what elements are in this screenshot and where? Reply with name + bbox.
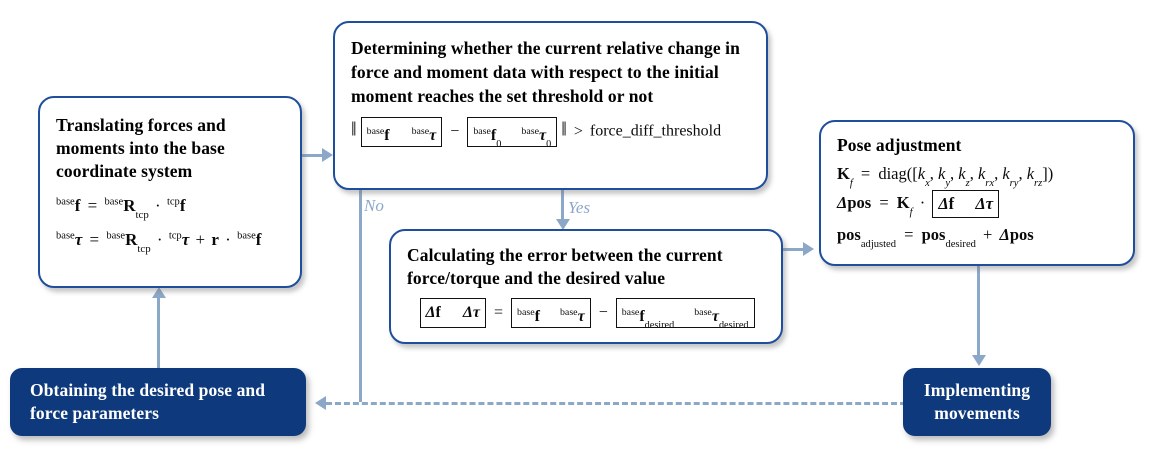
node-calculate-error-title: Calculating the error between the curren…	[407, 244, 767, 290]
node-calculate-error[interactable]: Calculating the error between the curren…	[389, 229, 783, 344]
node-translating-forces-title: Translating forces and moments into the …	[56, 114, 286, 183]
equation-stiffness-matrix: Kf = diag([kx, ky, kz, krx, kry, krz])	[837, 164, 1121, 184]
edge-label-no: No	[364, 196, 384, 216]
equation-force-error: Δf Δτ = basef baseτ − basefdesired baseτ…	[407, 298, 767, 328]
arrowhead-pose-to-implementing	[972, 355, 986, 366]
connector-desired-to-translate	[157, 295, 160, 368]
node-pose-adjustment[interactable]: Pose adjustment Kf = diag([kx, ky, kz, k…	[819, 120, 1135, 266]
equation-base-force: basef = baseRtcp · tcpf	[56, 196, 286, 216]
equation-threshold-condition: ‖ basef baseτ − basef0 baseτ0 ‖ > force_…	[351, 117, 752, 147]
node-obtaining-desired-pose-title: Obtaining the desired pose and force par…	[30, 379, 286, 425]
node-implementing-movements-title: Implementing movements	[917, 379, 1037, 425]
equation-delta-pos: Δpos = Kf · Δf Δτ	[837, 190, 1121, 218]
connector-decision-no-branch	[359, 190, 362, 402]
connector-pose-to-implementing	[977, 266, 980, 360]
flowchart-canvas: Yes No Translating forces and moments in…	[0, 0, 1163, 451]
node-obtaining-desired-pose[interactable]: Obtaining the desired pose and force par…	[10, 368, 306, 436]
equation-pos-adjusted: posadjusted = posdesired + Δpos	[837, 225, 1121, 245]
threshold-variable-name: force_diff_threshold	[590, 123, 721, 140]
edge-label-yes: Yes	[568, 198, 590, 218]
node-implementing-movements[interactable]: Implementing movements	[903, 368, 1051, 436]
node-translating-forces[interactable]: Translating forces and moments into the …	[38, 96, 302, 288]
arrowhead-error-to-pose	[803, 242, 814, 256]
node-pose-adjustment-title: Pose adjustment	[837, 134, 1121, 156]
arrowhead-desired-to-translate	[152, 287, 166, 298]
node-threshold-decision-title: Determining whether the current relative…	[351, 36, 752, 108]
equation-base-torque: baseτ = baseRtcp · tcpτ + r · basef	[56, 230, 286, 250]
arrowhead-implementing-to-desired	[315, 396, 326, 410]
arrowhead-translate-to-decision	[322, 148, 333, 162]
connector-implementing-to-desired-dashed	[326, 402, 906, 405]
node-threshold-decision[interactable]: Determining whether the current relative…	[333, 21, 768, 190]
